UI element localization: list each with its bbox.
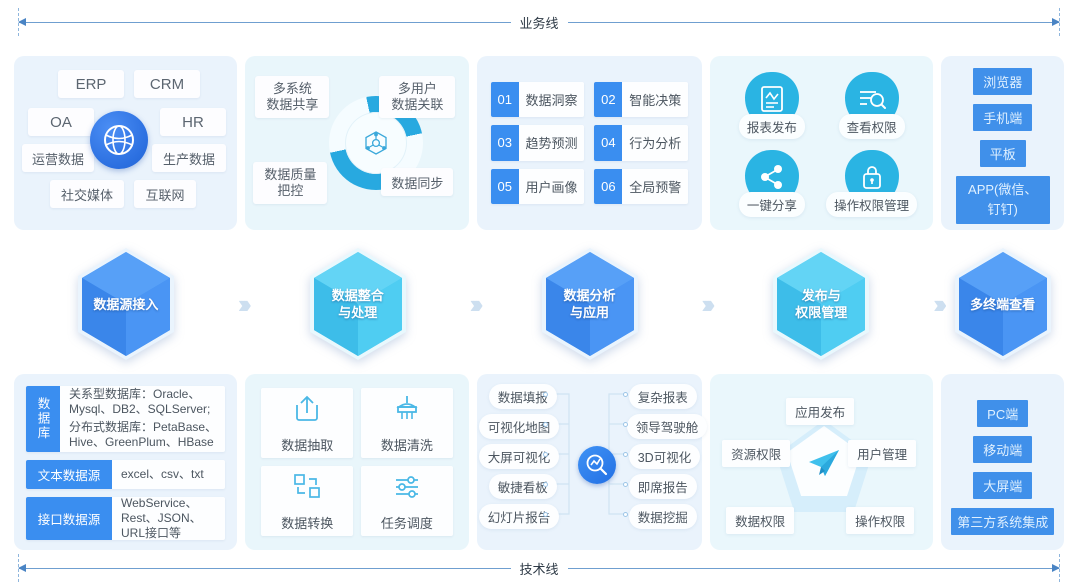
mindmap-item-left[interactable]: 可视化地图 — [479, 414, 560, 439]
technical-panel-permission: 应用发布 资源权限 用户管理 数据权限 操作权限 — [710, 374, 933, 550]
stage-cell: 数据分析 与应用 — [478, 247, 702, 361]
chevron-right-icon: ››› — [238, 291, 246, 317]
db-source-row[interactable]: 文本数据源 excel、csv、txt — [26, 460, 225, 489]
mindmap-item-left[interactable]: 大屏可视化 — [479, 444, 560, 469]
icon-tile-report-publish[interactable]: 报表发布 — [726, 66, 818, 142]
pill-erp[interactable]: ERP — [58, 70, 124, 98]
permission-label: 操作权限 — [855, 515, 905, 529]
db-source-key: 文本数据源 — [26, 460, 112, 489]
permission-item-operation[interactable]: 操作权限 — [846, 507, 914, 534]
pill-label: 数据质量 把控 — [264, 167, 316, 199]
numbered-item[interactable]: 04 行为分析 — [594, 125, 688, 160]
item-number: 05 — [491, 169, 519, 204]
tile-label: 查看权限 — [839, 114, 905, 139]
pill-label: 多用户 数据关联 — [391, 81, 443, 113]
permission-label: 应用发布 — [795, 406, 845, 420]
stage-hexagon-data-analysis[interactable]: 数据分析 与应用 — [540, 247, 640, 361]
item-number: 03 — [491, 125, 519, 160]
tile-label: 报表发布 — [739, 114, 805, 139]
business-line-axis: 业务线 — [18, 8, 1060, 36]
icon-tile-one-click-share[interactable]: 一键分享 — [726, 144, 818, 220]
pill-hr[interactable]: HR — [160, 108, 226, 136]
db-source-values: 关系型数据库：Oracle、Mysql、DB2、SQLServer; 分布式数据… — [60, 386, 225, 452]
mindmap-item-right[interactable]: 即席报告 — [629, 474, 697, 499]
flow-arrow: ››› — [701, 291, 709, 317]
pill-multi-system-sharing[interactable]: 多系统 数据共享 — [255, 76, 329, 118]
stage-label: 发布与 权限管理 — [795, 287, 847, 321]
stage-hexagon-multi-terminal-view[interactable]: 多终端查看 — [953, 247, 1053, 361]
tech-block-mobile[interactable]: 移动端 — [973, 436, 1032, 463]
mindmap-label: 3D可视化 — [638, 451, 691, 465]
pill-social-media[interactable]: 社交媒体 — [50, 180, 124, 208]
terminal-block-browser[interactable]: 浏览器 — [973, 68, 1032, 95]
analytics-search-icon — [578, 446, 616, 484]
numbered-item[interactable]: 06 全局预警 — [594, 169, 688, 204]
axis-arrow-left — [19, 22, 511, 23]
icon-tile-view-permission[interactable]: 查看权限 — [826, 66, 918, 142]
etl-card-data-clean[interactable]: 数据清洗 — [361, 388, 453, 458]
stage-hexagon-data-integration[interactable]: 数据整合 与处理 — [308, 247, 408, 361]
transform-icon — [292, 471, 322, 506]
item-number: 04 — [594, 125, 622, 160]
pill-operation-data[interactable]: 运营数据 — [22, 144, 94, 172]
terminal-block-app[interactable]: APP(微信、钉钉) — [956, 176, 1050, 224]
pill-crm[interactable]: CRM — [134, 70, 200, 98]
sliders-schedule-icon — [392, 471, 422, 506]
stage-flow: 数据源接入 ››› 数据整合 与处理 ››› 数据分析 与应用 — [14, 238, 1064, 370]
mindmap-label: 领导驾驶舱 — [636, 421, 699, 435]
technical-line-axis: 技术线 — [18, 554, 1060, 582]
stage-label: 数据源接入 — [93, 296, 158, 313]
broom-clean-icon — [392, 393, 422, 428]
globe-network-icon — [90, 111, 148, 169]
permission-item-resource[interactable]: 资源权限 — [722, 440, 790, 467]
permission-label: 资源权限 — [731, 448, 781, 462]
tile-label: 一键分享 — [739, 192, 805, 217]
numbered-item[interactable]: 02 智能决策 — [594, 82, 688, 117]
pill-label: OA — [50, 114, 72, 131]
tech-block-pc[interactable]: PC端 — [977, 400, 1028, 427]
chevron-right-icon: ››› — [470, 291, 478, 317]
db-source-values: excel、csv、txt — [112, 460, 225, 489]
stage-label: 数据整合 与处理 — [332, 287, 384, 321]
permission-item-user-mgmt[interactable]: 用户管理 — [848, 440, 916, 467]
technical-line-label: 技术线 — [511, 559, 568, 578]
mindmap-item-left[interactable]: 幻灯片报告 — [479, 504, 560, 529]
etl-card-data-extract[interactable]: 数据抽取 — [261, 388, 353, 458]
icon-tile-operation-permission[interactable]: 操作权限管理 — [826, 144, 918, 220]
pill-label: ERP — [76, 76, 107, 93]
mindmap-label: 数据填报 — [498, 391, 548, 405]
item-label: 数据洞察 — [519, 82, 585, 117]
chevron-right-icon: ››› — [701, 291, 709, 317]
technical-panel-data-sources: 数据库 关系型数据库：Oracle、Mysql、DB2、SQLServer; 分… — [14, 374, 237, 550]
upload-extract-icon — [292, 393, 322, 428]
db-source-values: WebService、Rest、JSON、URL接口等 — [112, 497, 225, 540]
permission-item-app-publish[interactable]: 应用发布 — [786, 398, 854, 425]
db-source-value: 分布式数据库：PetaBase、Hive、GreenPlum、HBase — [69, 420, 219, 450]
item-number: 06 — [594, 169, 622, 204]
technical-panel-visualization: 数据填报 可视化地图 大屏可视化 敏捷看板 幻灯片报告 复杂报表 领导驾驶舱 3… — [477, 374, 702, 550]
pill-multi-user-relation[interactable]: 多用户 数据关联 — [379, 76, 455, 118]
pill-label: 数据同步 — [391, 173, 443, 192]
db-source-key: 接口数据源 — [26, 497, 112, 540]
axis-arrow-right — [568, 22, 1060, 23]
terminal-block-tablet[interactable]: 平板 — [980, 140, 1026, 167]
business-line-label: 业务线 — [511, 13, 568, 32]
db-source-row[interactable]: 接口数据源 WebService、Rest、JSON、URL接口等 — [26, 497, 225, 540]
business-row: ERP CRM OA HR 运营数据 生产数据 社交媒体 互联网 — [14, 56, 1064, 230]
numbered-item[interactable]: 03 趋势预测 — [491, 125, 585, 160]
numbered-item[interactable]: 05 用户画像 — [491, 169, 585, 204]
technical-panel-terminals: PC端 移动端 大屏端 第三方系统集成 — [941, 374, 1064, 550]
stage-label: 多终端查看 — [970, 296, 1035, 313]
card-label: 数据抽取 — [281, 435, 333, 454]
mindmap-label: 数据挖掘 — [638, 511, 688, 525]
stage-cell: 多终端查看 — [941, 247, 1064, 361]
item-label: 趋势预测 — [519, 125, 585, 160]
axis-arrow-right — [568, 568, 1060, 569]
flow-arrow: ››› — [933, 291, 941, 317]
mindmap-item-right[interactable]: 领导驾驶舱 — [627, 414, 708, 439]
business-panel-publish: 报表发布 查看权限 — [710, 56, 933, 230]
stage-hexagon-publish-permission[interactable]: 发布与 权限管理 — [771, 247, 871, 361]
flow-arrow: ››› — [238, 291, 246, 317]
db-source-value: excel、csv、txt — [121, 467, 204, 482]
pill-data-quality-control[interactable]: 数据质量 把控 — [253, 162, 327, 204]
db-source-value: 关系型数据库：Oracle、Mysql、DB2、SQLServer; — [69, 387, 219, 417]
db-source-value: WebService、Rest、JSON、URL接口等 — [121, 497, 219, 540]
mindmap-label: 可视化地图 — [488, 421, 551, 435]
stage-hexagon-data-source-access[interactable]: 数据源接入 — [76, 247, 176, 361]
card-label: 数据转换 — [281, 513, 333, 532]
pill-label: 多系统 数据共享 — [266, 81, 318, 113]
stage-cell: 发布与 权限管理 — [709, 247, 933, 361]
permission-label: 用户管理 — [857, 448, 907, 462]
item-label: 用户画像 — [519, 169, 585, 204]
data-node-icon — [345, 112, 407, 174]
mindmap-label: 大屏可视化 — [488, 451, 551, 465]
etl-card-task-schedule[interactable]: 任务调度 — [361, 466, 453, 536]
technical-row: 数据库 关系型数据库：Oracle、Mysql、DB2、SQLServer; 分… — [14, 374, 1064, 550]
axis-arrow-left — [19, 568, 511, 569]
pill-label: 互联网 — [145, 185, 184, 204]
technical-panel-etl: 数据抽取 数据清洗 — [245, 374, 468, 550]
pill-oa[interactable]: OA — [28, 108, 94, 136]
tech-block-large-screen[interactable]: 大屏端 — [973, 472, 1032, 499]
mindmap-label: 即席报告 — [638, 481, 688, 495]
flow-arrow: ››› — [470, 291, 478, 317]
business-panel-integration: 多系统 数据共享 多用户 数据关联 数据质量 把控 数据同步 — [245, 56, 468, 230]
mindmap-item-right[interactable]: 3D可视化 — [629, 444, 700, 469]
item-number: 02 — [594, 82, 622, 117]
card-label: 数据清洗 — [381, 435, 433, 454]
stage-label: 数据分析 与应用 — [563, 287, 615, 321]
card-label: 任务调度 — [381, 513, 433, 532]
chevron-right-icon: ››› — [933, 291, 941, 317]
business-panel-analysis: 01 数据洞察 02 智能决策 03 趋势预测 04 行为分析 05 用户画像 … — [477, 56, 702, 230]
item-label: 智能决策 — [622, 82, 688, 117]
mindmap-item-right[interactable]: 数据挖掘 — [629, 504, 697, 529]
pill-label: 运营数据 — [32, 149, 84, 168]
business-panel-terminals: 浏览器 手机端 平板 APP(微信、钉钉) — [941, 56, 1064, 230]
tech-block-third-party[interactable]: 第三方系统集成 — [951, 508, 1054, 535]
etl-card-data-transform[interactable]: 数据转换 — [261, 466, 353, 536]
mindmap-item-right[interactable]: 复杂报表 — [629, 384, 697, 409]
business-panel-data-sources: ERP CRM OA HR 运营数据 生产数据 社交媒体 互联网 — [14, 56, 237, 230]
pill-production-data[interactable]: 生产数据 — [152, 144, 226, 172]
tile-label: 操作权限管理 — [826, 192, 917, 217]
pill-label: HR — [182, 114, 204, 131]
item-number: 01 — [491, 82, 519, 117]
mindmap-label: 复杂报表 — [638, 391, 688, 405]
pill-label: 社交媒体 — [61, 185, 113, 204]
numbered-item[interactable]: 01 数据洞察 — [491, 82, 585, 117]
db-source-row[interactable]: 数据库 关系型数据库：Oracle、Mysql、DB2、SQLServer; 分… — [26, 386, 225, 452]
mindmap-label: 幻灯片报告 — [488, 511, 551, 525]
stage-cell: 数据源接入 — [14, 247, 238, 361]
terminal-block-mobile[interactable]: 手机端 — [973, 104, 1032, 131]
mindmap-label: 敏捷看板 — [498, 481, 548, 495]
pill-label: CRM — [150, 76, 184, 93]
db-source-key: 数据库 — [26, 386, 60, 452]
stage-cell: 数据整合 与处理 — [246, 247, 470, 361]
pill-internet[interactable]: 互联网 — [134, 180, 196, 208]
pill-label: 生产数据 — [163, 149, 215, 168]
pill-data-sync[interactable]: 数据同步 — [381, 168, 453, 196]
permission-item-data[interactable]: 数据权限 — [726, 507, 794, 534]
item-label: 全局预警 — [622, 169, 688, 204]
item-label: 行为分析 — [622, 125, 688, 160]
permission-label: 数据权限 — [735, 515, 785, 529]
